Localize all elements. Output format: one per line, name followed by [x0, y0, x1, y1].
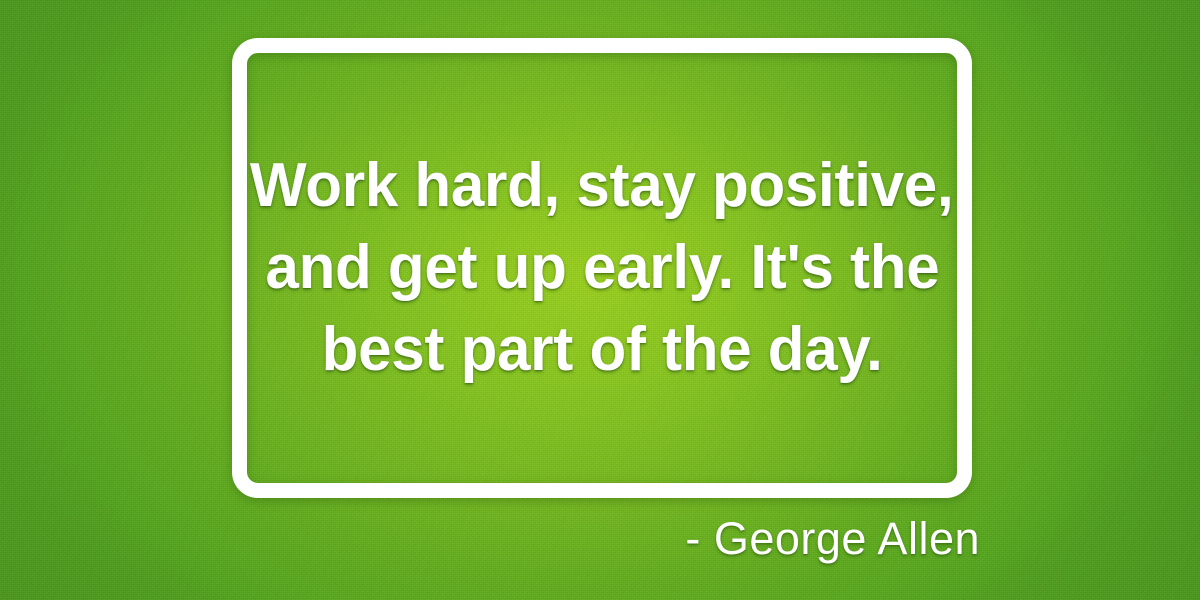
quote-text-block: Work hard, stay positive, and get up ear…: [232, 38, 972, 498]
quote-line-1: Work hard, stay positive,: [250, 145, 953, 227]
quote-line-3: best part of the day.: [322, 309, 883, 391]
quote-line-2: and get up early. It's the: [265, 227, 939, 309]
quote-card: Work hard, stay positive, and get up ear…: [0, 0, 1200, 600]
quote-attribution: - George Allen: [685, 510, 980, 568]
